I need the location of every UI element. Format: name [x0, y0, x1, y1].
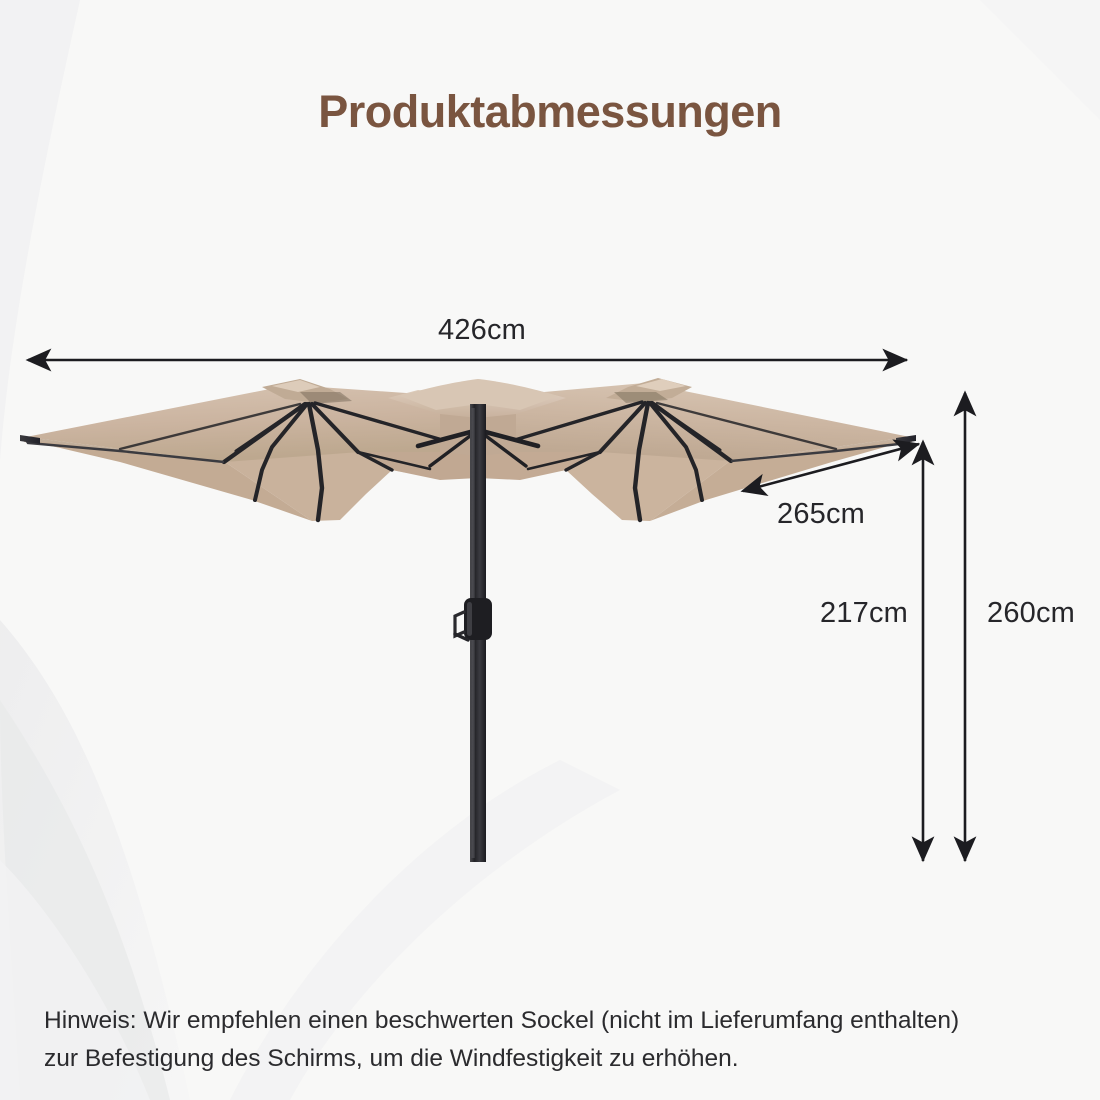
footer-note: Hinweis: Wir empfehlen einen beschwerten…	[44, 1002, 1004, 1078]
dimension-label-426: 426cm	[438, 314, 526, 347]
dimension-label-217: 217cm	[820, 597, 908, 630]
dimension-label-265: 265cm	[777, 498, 865, 531]
crank-housing-highlight	[467, 602, 472, 636]
umbrella-dimension-diagram	[0, 0, 1100, 1100]
dimension-label-260: 260cm	[987, 597, 1075, 630]
footer-note-line-1: Hinweis: Wir empfehlen einen beschwerten…	[44, 1002, 1004, 1040]
umbrella-graphic	[20, 378, 916, 862]
footer-note-line-2: zur Befestigung des Schirms, um die Wind…	[44, 1040, 1004, 1078]
crank-handle	[455, 612, 464, 636]
product-dimensions-page: Produktabmessungen	[0, 0, 1100, 1100]
